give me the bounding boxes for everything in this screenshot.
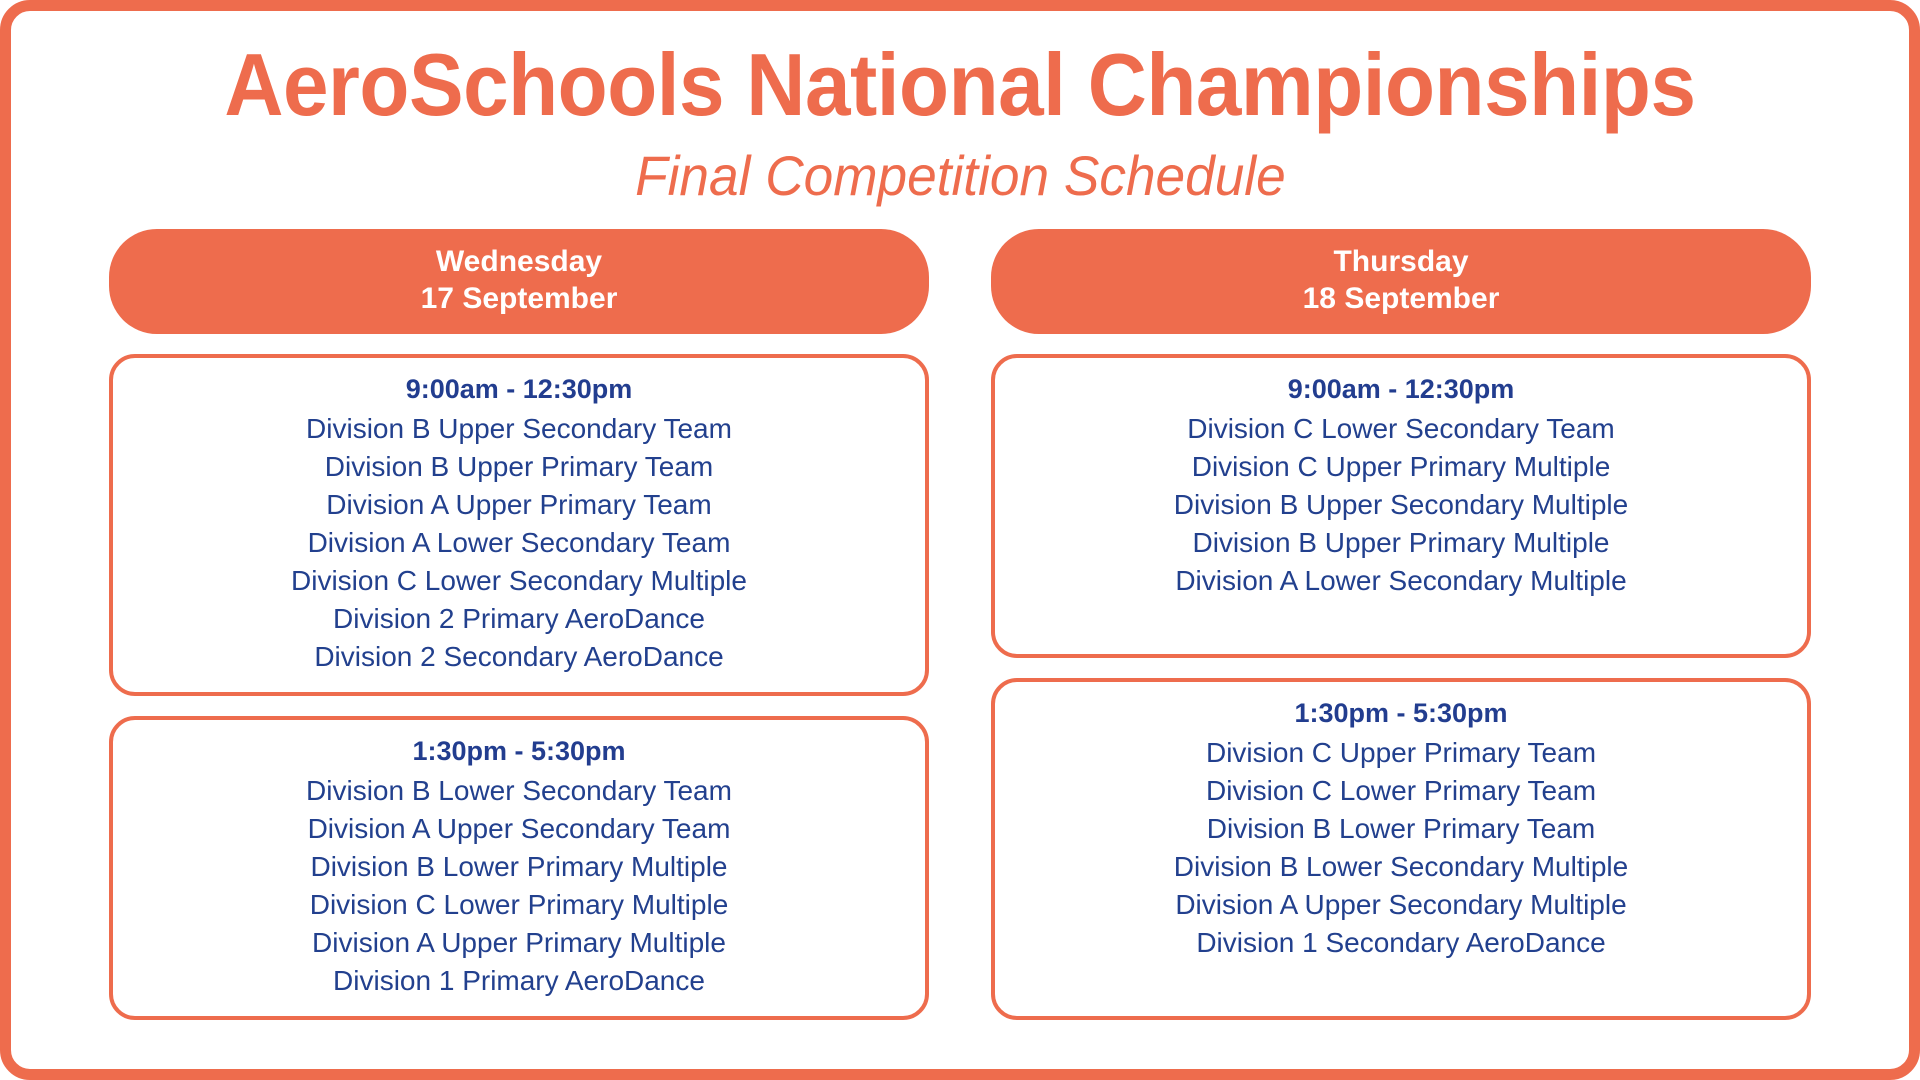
day-column-wednesday: Wednesday 17 September 9:00am - 12:30pm … bbox=[109, 229, 929, 1020]
session-time: 9:00am - 12:30pm bbox=[131, 372, 907, 408]
event-line: Division B Upper Primary Multiple bbox=[1013, 524, 1789, 562]
day-date: 18 September bbox=[991, 280, 1811, 318]
event-line: Division C Upper Primary Multiple bbox=[1013, 448, 1789, 486]
session-time: 9:00am - 12:30pm bbox=[1013, 372, 1789, 408]
day-column-thursday: Thursday 18 September 9:00am - 12:30pm D… bbox=[991, 229, 1811, 1020]
event-line: Division A Lower Secondary Multiple bbox=[1013, 562, 1789, 600]
session-time: 1:30pm - 5:30pm bbox=[1013, 696, 1789, 732]
page-subtitle: Final Competition Schedule bbox=[635, 145, 1286, 207]
session-card-thursday-afternoon: 1:30pm - 5:30pm Division C Upper Primary… bbox=[991, 678, 1811, 1020]
day-header-thursday: Thursday 18 September bbox=[991, 229, 1811, 334]
schedule-columns: Wednesday 17 September 9:00am - 12:30pm … bbox=[45, 229, 1875, 1020]
event-line: Division C Lower Primary Team bbox=[1013, 772, 1789, 810]
event-line: Division B Lower Primary Multiple bbox=[131, 848, 907, 886]
event-line: Division B Lower Primary Team bbox=[1013, 810, 1789, 848]
event-line: Division A Upper Secondary Team bbox=[131, 810, 907, 848]
event-line: Division A Upper Primary Team bbox=[131, 486, 907, 524]
event-line: Division 2 Primary AeroDance bbox=[131, 600, 907, 638]
event-line: Division A Lower Secondary Team bbox=[131, 524, 907, 562]
day-name: Wednesday bbox=[109, 243, 929, 281]
session-card-thursday-morning: 9:00am - 12:30pm Division C Lower Second… bbox=[991, 354, 1811, 658]
session-time: 1:30pm - 5:30pm bbox=[131, 734, 907, 770]
page-title: AeroSchools National Championships bbox=[224, 39, 1695, 131]
event-line: Division B Upper Secondary Team bbox=[131, 410, 907, 448]
event-line: Division 1 Secondary AeroDance bbox=[1013, 924, 1789, 962]
event-line: Division 2 Secondary AeroDance bbox=[131, 638, 907, 676]
event-line: Division B Lower Secondary Multiple bbox=[1013, 848, 1789, 886]
event-line: Division C Upper Primary Team bbox=[1013, 734, 1789, 772]
event-line: Division C Lower Secondary Team bbox=[1013, 410, 1789, 448]
event-line: Division B Lower Secondary Team bbox=[131, 772, 907, 810]
event-line: Division C Lower Primary Multiple bbox=[131, 886, 907, 924]
day-date: 17 September bbox=[109, 280, 929, 318]
event-line: Division B Upper Primary Team bbox=[131, 448, 907, 486]
event-line: Division A Upper Primary Multiple bbox=[131, 924, 907, 962]
day-header-wednesday: Wednesday 17 September bbox=[109, 229, 929, 334]
session-card-wednesday-afternoon: 1:30pm - 5:30pm Division B Lower Seconda… bbox=[109, 716, 929, 1020]
poster-frame: AeroSchools National Championships Final… bbox=[0, 0, 1920, 1080]
session-card-wednesday-morning: 9:00am - 12:30pm Division B Upper Second… bbox=[109, 354, 929, 696]
day-name: Thursday bbox=[991, 243, 1811, 281]
event-line: Division C Lower Secondary Multiple bbox=[131, 562, 907, 600]
event-line: Division A Upper Secondary Multiple bbox=[1013, 886, 1789, 924]
event-line: Division 1 Primary AeroDance bbox=[131, 962, 907, 1000]
event-line: Division B Upper Secondary Multiple bbox=[1013, 486, 1789, 524]
